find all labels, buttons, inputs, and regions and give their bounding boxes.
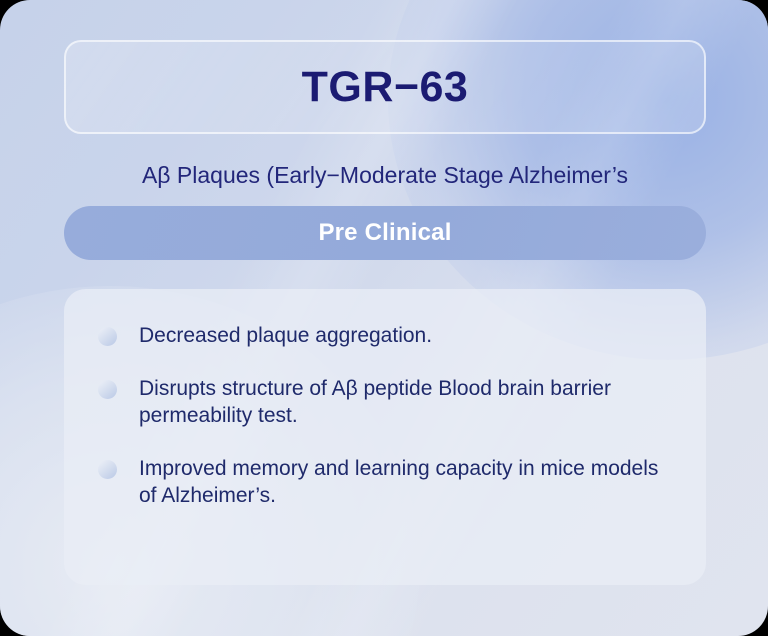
facts-panel: Decreased plaque aggregation. Disrupts s…	[64, 289, 706, 585]
drug-indication-subtitle: Aβ Plaques (Early−Moderate Stage Alzheim…	[142, 162, 628, 188]
bullet-circle-icon	[98, 460, 117, 479]
bullet-circle-icon	[98, 327, 117, 346]
card-content: TGR−63 Aβ Plaques (Early−Moderate Stage …	[0, 0, 768, 636]
fact-text: Decreased plaque aggregation.	[139, 323, 432, 350]
drug-title: TGR−63	[302, 66, 469, 109]
status-badge-label: Pre Clinical	[318, 219, 451, 247]
list-item: Disrupts structure of Aβ peptide Blood b…	[98, 376, 676, 430]
status-badge: Pre Clinical	[64, 206, 706, 260]
fact-text: Improved memory and learning capacity in…	[139, 456, 669, 510]
list-item: Decreased plaque aggregation.	[98, 323, 676, 350]
subtitle-container: Aβ Plaques (Early−Moderate Stage Alzheim…	[64, 160, 706, 190]
bullet-circle-icon	[98, 380, 117, 399]
title-box: TGR−63	[64, 40, 706, 134]
drug-candidate-card: TGR−63 Aβ Plaques (Early−Moderate Stage …	[0, 0, 768, 636]
fact-text: Disrupts structure of Aβ peptide Blood b…	[139, 376, 669, 430]
list-item: Improved memory and learning capacity in…	[98, 456, 676, 510]
